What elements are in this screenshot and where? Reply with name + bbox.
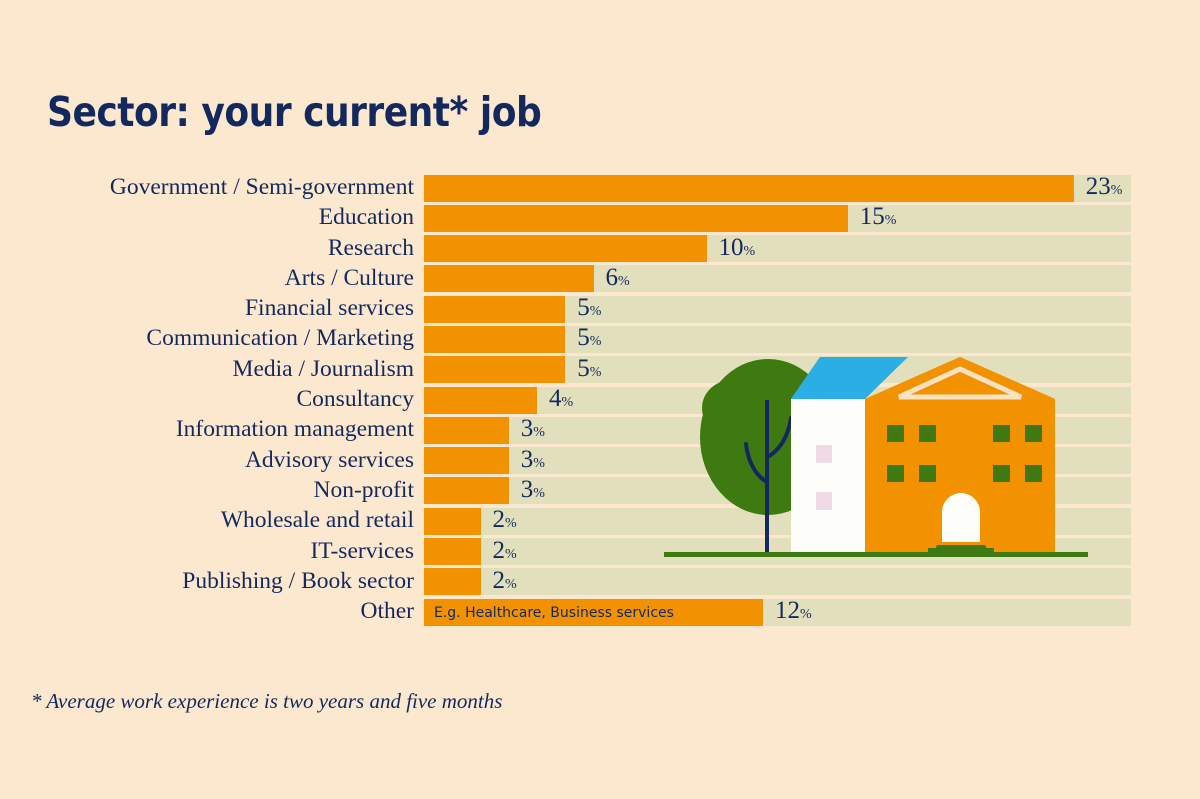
category-label: Education bbox=[319, 203, 414, 231]
bar-chart: Government / Semi-government23%Education… bbox=[0, 173, 1200, 627]
percent-sign: % bbox=[885, 213, 897, 228]
value-label: 3% bbox=[521, 414, 545, 443]
bar-track bbox=[424, 296, 1131, 323]
category-label: Non-profit bbox=[313, 476, 414, 504]
bar: E.g. Healthcare, Business services bbox=[424, 599, 763, 626]
value-label: 5% bbox=[577, 354, 601, 383]
value-number: 10 bbox=[719, 234, 744, 261]
value-label: 12% bbox=[775, 596, 812, 625]
value-label: 23% bbox=[1086, 172, 1123, 201]
percent-sign: % bbox=[590, 334, 602, 349]
category-label: Consultancy bbox=[297, 385, 415, 413]
chart-row: Wholesale and retail2% bbox=[0, 506, 1200, 536]
bar-track bbox=[424, 538, 1131, 565]
bar bbox=[424, 387, 537, 414]
value-number: 3 bbox=[521, 476, 534, 503]
value-label: 5% bbox=[577, 323, 601, 352]
category-label: Arts / Culture bbox=[285, 264, 414, 292]
bar bbox=[424, 538, 481, 565]
percent-sign: % bbox=[533, 456, 545, 471]
chart-row: Advisory services3% bbox=[0, 446, 1200, 476]
percent-sign: % bbox=[505, 547, 517, 562]
chart-row: Consultancy4% bbox=[0, 385, 1200, 415]
chart-row: Arts / Culture6% bbox=[0, 264, 1200, 294]
chart-row: Publishing / Book sector2% bbox=[0, 567, 1200, 597]
bar-track bbox=[424, 508, 1131, 535]
bar bbox=[424, 326, 565, 353]
value-label: 3% bbox=[521, 475, 545, 504]
value-number: 4 bbox=[549, 385, 562, 412]
bar-track bbox=[424, 356, 1131, 383]
chart-row: Information management3% bbox=[0, 415, 1200, 445]
value-label: 2% bbox=[493, 505, 517, 534]
value-label: 4% bbox=[549, 384, 573, 413]
bar-track bbox=[424, 568, 1131, 595]
percent-sign: % bbox=[505, 577, 517, 592]
bar bbox=[424, 568, 481, 595]
value-number: 6 bbox=[606, 264, 619, 291]
bar-track bbox=[424, 326, 1131, 353]
chart-row: Communication / Marketing5% bbox=[0, 324, 1200, 354]
value-number: 5 bbox=[577, 355, 590, 382]
percent-sign: % bbox=[505, 516, 517, 531]
value-number: 2 bbox=[493, 537, 506, 564]
value-label: 10% bbox=[719, 233, 756, 262]
category-label: Communication / Marketing bbox=[146, 324, 414, 352]
category-label: Publishing / Book sector bbox=[182, 567, 414, 595]
bar-track bbox=[424, 205, 1131, 232]
value-number: 15 bbox=[860, 203, 885, 230]
infographic-root: Sector: your current* job Government / S… bbox=[0, 0, 1200, 799]
category-label: Other bbox=[360, 597, 414, 625]
value-label: 3% bbox=[521, 445, 545, 474]
percent-sign: % bbox=[590, 365, 602, 380]
bar bbox=[424, 265, 594, 292]
percent-sign: % bbox=[744, 244, 756, 259]
percent-sign: % bbox=[533, 425, 545, 440]
percent-sign: % bbox=[533, 486, 545, 501]
value-number: 23 bbox=[1086, 173, 1111, 200]
footnote: * Average work experience is two years a… bbox=[31, 689, 502, 714]
percent-sign: % bbox=[800, 607, 812, 622]
bar-track bbox=[424, 235, 1131, 262]
percent-sign: % bbox=[562, 395, 574, 410]
value-number: 5 bbox=[577, 294, 590, 321]
bar bbox=[424, 235, 707, 262]
bar bbox=[424, 175, 1074, 202]
bar-track bbox=[424, 387, 1131, 414]
bar bbox=[424, 508, 481, 535]
bar bbox=[424, 447, 509, 474]
page-title: Sector: your current* job bbox=[47, 88, 541, 136]
chart-row: Media / Journalism5% bbox=[0, 355, 1200, 385]
value-label: 2% bbox=[493, 566, 517, 595]
category-label: IT-services bbox=[310, 537, 414, 565]
chart-row: Financial services5% bbox=[0, 294, 1200, 324]
chart-row: OtherE.g. Healthcare, Business services1… bbox=[0, 597, 1200, 627]
bar-track bbox=[424, 265, 1131, 292]
bar bbox=[424, 205, 848, 232]
value-label: 15% bbox=[860, 202, 897, 231]
chart-row: IT-services2% bbox=[0, 537, 1200, 567]
chart-row: Non-profit3% bbox=[0, 476, 1200, 506]
category-label: Information management bbox=[176, 415, 414, 443]
category-label: Advisory services bbox=[245, 446, 414, 474]
value-label: 5% bbox=[577, 293, 601, 322]
value-label: 2% bbox=[493, 536, 517, 565]
chart-row: Government / Semi-government23% bbox=[0, 173, 1200, 203]
chart-row: Research10% bbox=[0, 234, 1200, 264]
value-label: 6% bbox=[606, 263, 630, 292]
percent-sign: % bbox=[1111, 183, 1123, 198]
category-label: Research bbox=[328, 234, 414, 262]
value-number: 12 bbox=[775, 597, 800, 624]
value-number: 3 bbox=[521, 415, 534, 442]
percent-sign: % bbox=[590, 304, 602, 319]
category-label: Government / Semi-government bbox=[110, 173, 414, 201]
category-label: Wholesale and retail bbox=[221, 506, 414, 534]
bar bbox=[424, 356, 565, 383]
value-number: 2 bbox=[493, 506, 506, 533]
value-number: 3 bbox=[521, 446, 534, 473]
value-number: 2 bbox=[493, 567, 506, 594]
bar bbox=[424, 296, 565, 323]
bar bbox=[424, 477, 509, 504]
percent-sign: % bbox=[618, 274, 630, 289]
value-number: 5 bbox=[577, 324, 590, 351]
bar-track bbox=[424, 175, 1131, 202]
bar bbox=[424, 417, 509, 444]
category-label: Media / Journalism bbox=[233, 355, 414, 383]
category-label: Financial services bbox=[245, 294, 414, 322]
bar-annotation: E.g. Healthcare, Business services bbox=[434, 599, 674, 626]
chart-row: Education15% bbox=[0, 203, 1200, 233]
